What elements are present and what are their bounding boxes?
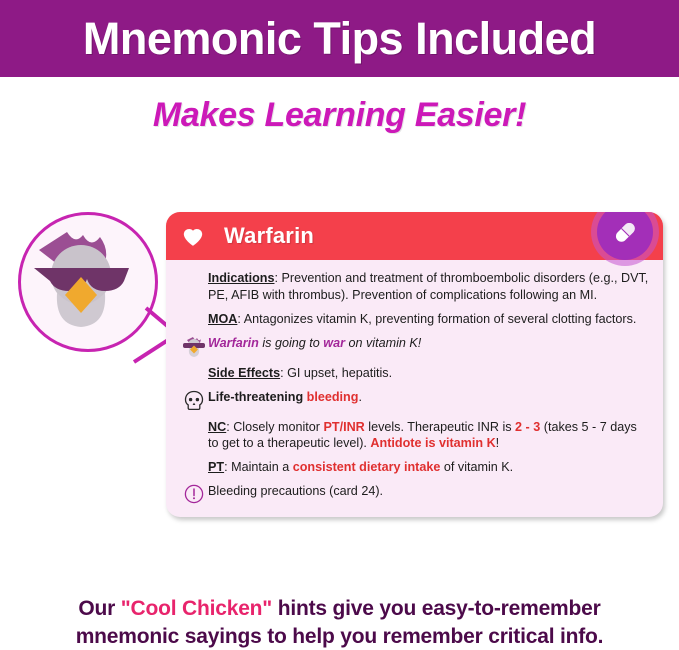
indications-body: : Prevention and treatment of thromboemb… xyxy=(208,271,648,302)
footer-highlight: "Cool Chicken" xyxy=(121,597,272,620)
row-icon-skull xyxy=(180,389,208,412)
card-row-moa: MOA: Antagonizes vitamin K, preventing f… xyxy=(180,311,649,328)
row-icon-chicken xyxy=(180,335,208,358)
nc-seg-6: Antidote is vitamin K xyxy=(370,436,495,450)
moa-body: : Antagonizes vitamin K, preventing form… xyxy=(237,312,636,326)
pt-text: PT: Maintain a consistent dietary intake… xyxy=(208,459,649,476)
pt-seg-1: : Maintain a xyxy=(224,460,293,474)
page-subtitle: Makes Learning Easier! xyxy=(0,96,679,135)
side-effects-body: : GI upset, hepatitis. xyxy=(280,366,392,380)
moa-label: MOA xyxy=(208,312,237,326)
footer-caption: Our "Cool Chicken" hints give you easy-t… xyxy=(0,595,679,650)
indications-text: Indications: Prevention and treatment of… xyxy=(208,270,649,304)
cool-chicken-icon xyxy=(182,336,206,358)
exclamation-circle-icon xyxy=(184,484,204,504)
nc-label: NC xyxy=(208,420,226,434)
indications-label: Indications xyxy=(208,271,274,285)
precautions-text: Bleeding precautions (card 24). xyxy=(208,483,649,500)
heart-icon xyxy=(180,223,206,249)
pt-seg-3: of vitamin K. xyxy=(440,460,513,474)
footer-line-2: mnemonic sayings to help you remember cr… xyxy=(0,623,679,650)
card-row-indications: Indications: Prevention and treatment of… xyxy=(180,270,649,304)
pill-capsule-icon xyxy=(610,217,640,247)
card-row-life-threatening: Life-threatening bleeding. xyxy=(180,389,649,412)
warfarin-flashcard: Warfarin Indications: Prevention and tre… xyxy=(166,212,663,517)
cool-chicken-bubble xyxy=(18,212,158,352)
card-row-pt: PT: Maintain a consistent dietary intake… xyxy=(180,459,649,476)
side-effects-label: Side Effects xyxy=(208,366,280,380)
life-threatening-end: . xyxy=(358,390,362,404)
footer-line-1: Our "Cool Chicken" hints give you easy-t… xyxy=(0,595,679,623)
side-effects-text: Side Effects: GI upset, hepatitis. xyxy=(208,365,649,382)
row-icon-spacer xyxy=(180,270,208,271)
nc-seg-1: : Closely monitor xyxy=(226,420,323,434)
card-row-nc: NC: Closely monitor PT/INR levels. Thera… xyxy=(180,419,649,453)
row-icon-spacer xyxy=(180,365,208,366)
card-row-precautions: Bleeding precautions (card 24). xyxy=(180,483,649,504)
moa-text: MOA: Antagonizes vitamin K, preventing f… xyxy=(208,311,649,328)
mnemonic-part-2: is going to xyxy=(259,336,323,350)
nc-seg-3: levels. Therapeutic INR is xyxy=(365,420,515,434)
mnemonic-part-4: on vitamin K! xyxy=(345,336,421,350)
nc-seg-4: 2 - 3 xyxy=(515,420,540,434)
skull-icon xyxy=(184,390,204,412)
mnemonic-part-3: war xyxy=(323,336,345,350)
card-header: Warfarin xyxy=(166,212,663,260)
nc-seg-2: PT/INR xyxy=(324,420,365,434)
life-threatening-bold: Life-threatening xyxy=(208,390,307,404)
pt-seg-2: consistent dietary intake xyxy=(293,460,441,474)
life-threatening-red: bleeding xyxy=(307,390,359,404)
card-body: Indications: Prevention and treatment of… xyxy=(166,260,663,517)
life-threatening-text: Life-threatening bleeding. xyxy=(208,389,649,406)
cool-chicken-mascot-icon xyxy=(21,215,155,349)
nc-seg-7: ! xyxy=(496,436,500,450)
card-title: Warfarin xyxy=(224,223,314,249)
row-icon-spacer xyxy=(180,459,208,460)
row-icon-spacer xyxy=(180,419,208,420)
mnemonic-text: Warfarin is going to war on vitamin K! xyxy=(208,335,649,352)
footer-line1-c: hints give you easy-to-remember xyxy=(272,597,601,620)
footer-line1-a: Our xyxy=(78,597,120,620)
nc-text: NC: Closely monitor PT/INR levels. Thera… xyxy=(208,419,649,453)
header-banner: Mnemonic Tips Included xyxy=(0,0,679,77)
card-row-side-effects: Side Effects: GI upset, hepatitis. xyxy=(180,365,649,382)
card-row-mnemonic: Warfarin is going to war on vitamin K! xyxy=(180,335,649,358)
page-title: Mnemonic Tips Included xyxy=(83,13,596,65)
pill-badge xyxy=(597,212,653,260)
row-icon-spacer xyxy=(180,311,208,312)
pt-label: PT xyxy=(208,460,224,474)
row-icon-exclamation xyxy=(180,483,208,504)
mnemonic-part-1: Warfarin xyxy=(208,336,259,350)
